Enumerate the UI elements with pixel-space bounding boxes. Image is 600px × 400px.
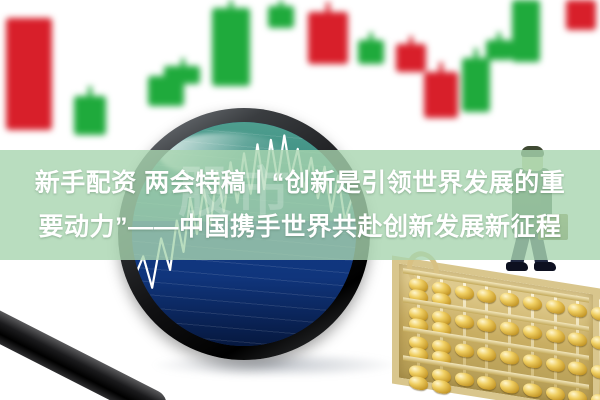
candle-body — [308, 12, 348, 64]
candle-body — [566, 0, 596, 30]
candle-body — [268, 6, 294, 28]
abacus-bead — [455, 284, 474, 300]
headline-line-2: 要动力”——中国携手世界共赴创新发展新征程 — [4, 205, 596, 249]
abacus-bead — [523, 382, 542, 398]
abacus-bead — [455, 313, 474, 329]
candlestick-chart-background — [0, 0, 600, 135]
abacus-bead — [546, 299, 565, 315]
candle-body — [166, 66, 200, 84]
abacus-bead — [568, 331, 587, 347]
candle-body — [74, 96, 106, 135]
abacus — [392, 272, 600, 400]
abacus-bead — [477, 346, 496, 362]
candle-body — [358, 40, 384, 64]
candle-body — [462, 58, 490, 112]
abacus-bead — [546, 328, 565, 344]
abacus-bead — [591, 335, 600, 351]
abacus-frame — [392, 256, 600, 400]
abacus-bead — [523, 295, 542, 311]
abacus-bead — [477, 288, 496, 304]
abacus-bead — [477, 317, 496, 333]
candle-body — [396, 44, 426, 72]
abacus-bead — [546, 357, 565, 373]
businessman-shoe-back — [506, 262, 528, 271]
abacus-bead — [591, 364, 600, 380]
candle-body — [424, 72, 458, 118]
cover-image-canvas: 股市 新手配资 两会特稿丨“创新是引领世界发展的重 要动力”——中国携手世界共赴… — [0, 0, 600, 400]
abacus-bead — [591, 306, 600, 322]
abacus-bead — [568, 302, 587, 318]
abacus-bead — [500, 379, 519, 395]
candle-body — [512, 0, 540, 62]
abacus-bead — [455, 342, 474, 358]
businessman-shoe-front — [534, 262, 556, 271]
abacus-bead — [500, 350, 519, 366]
abacus-bead — [568, 389, 587, 400]
abacus-bead — [546, 386, 565, 400]
abacus-bead — [455, 371, 474, 387]
abacus-bead — [523, 353, 542, 369]
headline-band: 股市 新手配资 两会特稿丨“创新是引领世界发展的重 要动力”——中国携手世界共赴… — [0, 150, 600, 260]
abacus-bead — [500, 292, 519, 308]
abacus-bead — [523, 324, 542, 340]
abacus-bead — [568, 360, 587, 376]
abacus-bead — [477, 375, 496, 391]
candle-body — [6, 18, 52, 130]
abacus-bead — [500, 321, 519, 337]
candle-body — [486, 40, 512, 60]
candle-body — [212, 8, 250, 86]
headline-line-1: 新手配资 两会特稿丨“创新是引领世界发展的重 — [4, 161, 596, 205]
abacus-bead — [591, 393, 600, 400]
